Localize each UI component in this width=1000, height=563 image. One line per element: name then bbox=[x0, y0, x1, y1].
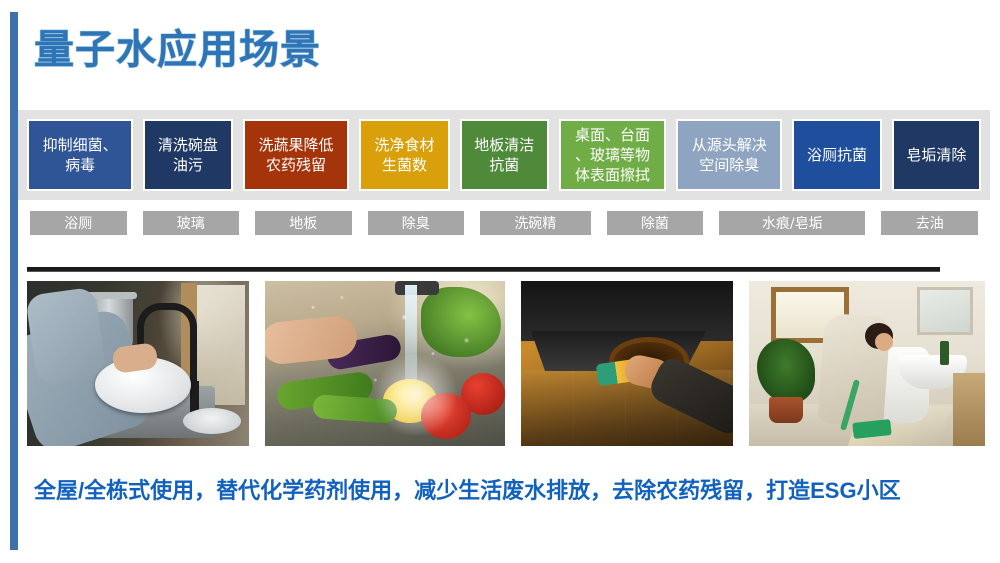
page-title: 量子水应用场景 bbox=[34, 28, 321, 72]
tag-item[interactable]: 地板 bbox=[255, 211, 352, 235]
scenario-box[interactable]: 地板清洁 抗菌 bbox=[460, 119, 549, 191]
photo-range-hood-cleaning bbox=[521, 281, 733, 446]
scenario-box[interactable]: 桌面、台面 、玻璃等物 体表面擦拭 bbox=[559, 119, 666, 191]
photo-dishwashing bbox=[27, 281, 249, 446]
tag-list: 浴厕 玻璃 地板 除臭 洗碗精 除菌 水痕/皂垢 去油 bbox=[18, 210, 990, 236]
tag-item[interactable]: 玻璃 bbox=[143, 211, 240, 235]
scenario-box-list: 抑制细菌、 病毒 清洗碗盘 油污 洗蔬果降低 农药残留 洗净食材 生菌数 地板清… bbox=[18, 110, 990, 200]
photo-bathroom-cleaning bbox=[749, 281, 985, 446]
tag-item[interactable]: 除菌 bbox=[607, 211, 704, 235]
scenario-box[interactable]: 洗蔬果降低 农药残留 bbox=[243, 119, 350, 191]
tag-item[interactable]: 除臭 bbox=[368, 211, 465, 235]
horizontal-divider bbox=[27, 267, 940, 271]
scenario-box[interactable]: 洗净食材 生菌数 bbox=[359, 119, 449, 191]
tag-item[interactable]: 洗碗精 bbox=[480, 211, 591, 235]
slide: 量子水应用场景 抑制细菌、 病毒 清洗碗盘 油污 洗蔬果降低 农药残留 洗净食材… bbox=[0, 0, 1000, 563]
summary-caption: 全屋/全栋式使用，替代化学药剂使用，减少生活废水排放，去除农药残留，打造ESG小… bbox=[34, 473, 901, 505]
scenario-box[interactable]: 从源头解决 空间除臭 bbox=[676, 119, 782, 191]
scenario-box[interactable]: 清洗碗盘 油污 bbox=[143, 119, 232, 191]
scenario-box[interactable]: 皂垢清除 bbox=[892, 119, 981, 191]
left-accent-bar bbox=[10, 12, 18, 550]
tag-item[interactable]: 浴厕 bbox=[30, 211, 127, 235]
photo-washing-vegetables bbox=[265, 281, 505, 446]
photo-strip bbox=[27, 281, 985, 446]
tag-item[interactable]: 去油 bbox=[881, 211, 978, 235]
scenario-box[interactable]: 抑制细菌、 病毒 bbox=[27, 119, 133, 191]
scenario-box[interactable]: 浴厕抗菌 bbox=[792, 119, 881, 191]
tag-item[interactable]: 水痕/皂垢 bbox=[719, 211, 865, 235]
